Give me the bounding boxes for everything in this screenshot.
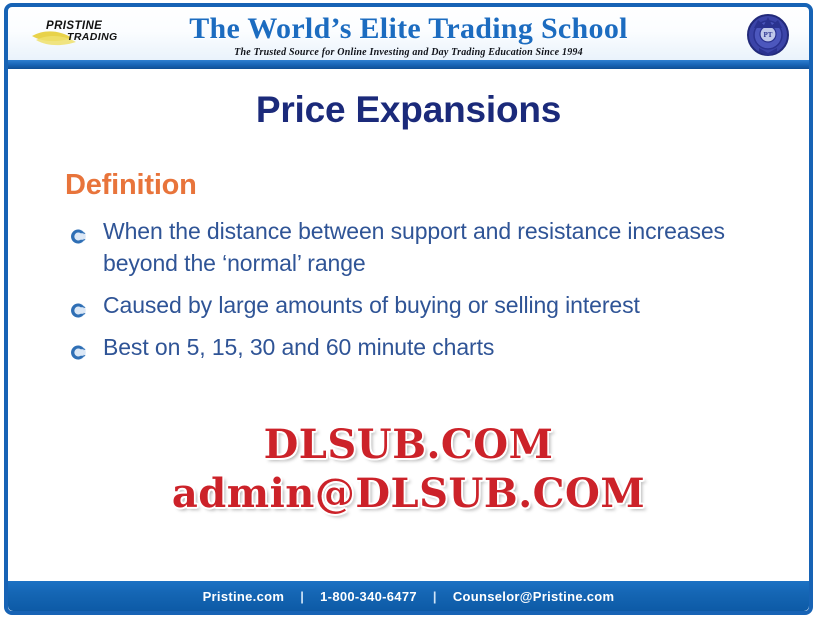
slide-body: Price Expansions Definition When the dis… [10, 71, 807, 579]
footer-website[interactable]: Pristine.com [203, 589, 285, 604]
header-divider [8, 60, 809, 69]
section-heading-definition: Definition [65, 169, 197, 202]
swirl-bullet-icon [70, 337, 87, 354]
list-item-label: Caused by large amounts of buying or sel… [103, 292, 640, 318]
swirl-bullet-icon [70, 221, 87, 238]
bullet-list: When the distance between support and re… [65, 215, 765, 373]
header-title: The World’s Elite Trading School [8, 12, 809, 46]
slide-header: PRISTINE TRADING The World’s Elite Tradi… [8, 7, 809, 61]
presentation-slide: PRISTINE TRADING The World’s Elite Tradi… [0, 0, 817, 618]
pristine-seal-icon: PT [745, 12, 791, 58]
slide-footer: Pristine.com | 1-800-340-6477 | Counselo… [8, 581, 809, 611]
footer-email[interactable]: Counselor@Pristine.com [453, 589, 615, 604]
header-subtitle: The Trusted Source for Online Investing … [8, 47, 809, 58]
watermark-site: DLSUB.COM [10, 423, 807, 468]
swirl-bullet-icon [70, 295, 87, 312]
list-item: Best on 5, 15, 30 and 60 minute charts [65, 331, 765, 363]
list-item: Caused by large amounts of buying or sel… [65, 289, 765, 321]
footer-separator-2: | [417, 589, 453, 604]
watermark-email: admin@DLSUB.COM [10, 472, 807, 517]
list-item-label: Best on 5, 15, 30 and 60 minute charts [103, 334, 494, 360]
watermark-overlay: DLSUB.COM admin@DLSUB.COM [10, 423, 807, 517]
list-item-label: When the distance between support and re… [103, 218, 725, 276]
list-item: When the distance between support and re… [65, 215, 765, 279]
footer-phone[interactable]: 1-800-340-6477 [320, 589, 417, 604]
svg-text:PT: PT [764, 31, 773, 39]
slide-title: Price Expansions [10, 89, 807, 131]
footer-separator-1: | [284, 589, 320, 604]
